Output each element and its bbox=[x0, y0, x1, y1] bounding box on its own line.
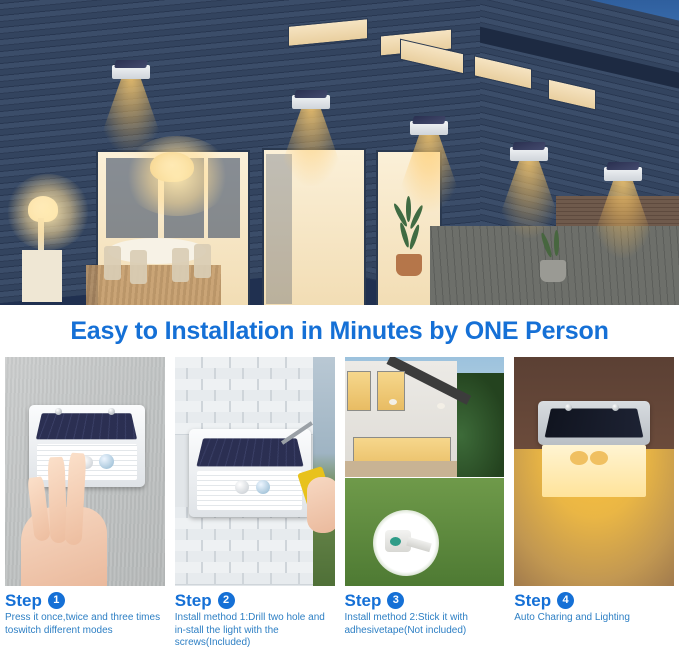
wall-light-small bbox=[389, 399, 397, 405]
dining-chair bbox=[194, 244, 211, 278]
solar-light-product bbox=[29, 405, 145, 487]
floor-lamp-glow bbox=[6, 174, 90, 250]
solar-light-product bbox=[538, 401, 650, 445]
mounting-screw bbox=[612, 404, 619, 411]
headline-band: Easy to Installation in Minutes by ONE P… bbox=[0, 305, 679, 357]
solar-panel bbox=[412, 116, 446, 124]
step-image-row bbox=[0, 357, 679, 590]
house-window bbox=[347, 371, 371, 411]
step-description: Auto Charing and Lighting bbox=[514, 612, 674, 625]
adhesive-tape-callout bbox=[373, 510, 439, 576]
step-caption-1: Step 1 Press it once,twice and three tim… bbox=[5, 592, 165, 665]
step-image-4 bbox=[514, 357, 674, 586]
step-caption-row: Step 1 Press it once,twice and three tim… bbox=[0, 592, 679, 665]
step-heading: Step 2 bbox=[175, 592, 335, 609]
solar-panel bbox=[294, 90, 328, 98]
step-word: Step bbox=[514, 592, 551, 609]
page-title: Easy to Installation in Minutes by ONE P… bbox=[70, 317, 608, 346]
solar-panel bbox=[512, 142, 546, 150]
mounting-screw bbox=[55, 408, 62, 415]
plant-pot bbox=[540, 260, 566, 282]
pir-motion-sensor bbox=[256, 480, 270, 494]
mounting-screw bbox=[565, 404, 572, 411]
solar-panel bbox=[545, 409, 644, 438]
step-caption-2: Step 2 Install method 1:Drill two hole a… bbox=[175, 592, 335, 665]
house-window bbox=[377, 371, 405, 411]
step-number-badge: 1 bbox=[48, 592, 65, 609]
step-word: Step bbox=[345, 592, 382, 609]
terrace-floor bbox=[345, 461, 457, 477]
step-description: Install method 1:Drill two hole and in-s… bbox=[175, 612, 335, 650]
dining-table bbox=[108, 238, 206, 264]
step-description: Press it once,twice and three times tosw… bbox=[5, 612, 165, 637]
plant-pot bbox=[396, 254, 422, 276]
step-number-badge: 2 bbox=[218, 592, 235, 609]
solar-panel bbox=[36, 414, 137, 440]
solar-panel bbox=[606, 162, 640, 170]
deck-planter bbox=[540, 230, 570, 300]
step-caption-3: Step 3 Install method 2:Stick it with ad… bbox=[345, 592, 505, 665]
step-image-1 bbox=[5, 357, 165, 586]
hand bbox=[307, 477, 335, 533]
solar-light-product bbox=[189, 429, 311, 517]
solar-panel bbox=[196, 438, 303, 466]
dining-chair bbox=[130, 250, 147, 284]
solar-wall-light bbox=[112, 58, 150, 79]
solar-wall-light bbox=[604, 160, 642, 181]
wall-light-small bbox=[437, 403, 445, 409]
step-description: Install method 2:Stick it with adhesivet… bbox=[345, 612, 505, 637]
dining-chair bbox=[104, 246, 121, 280]
led-array bbox=[197, 471, 302, 510]
step-word: Step bbox=[175, 592, 212, 609]
solar-wall-light bbox=[510, 140, 548, 161]
solar-wall-light bbox=[292, 88, 330, 109]
solar-panel bbox=[114, 60, 148, 68]
step-image-3 bbox=[345, 357, 505, 586]
pir-motion-sensor bbox=[99, 454, 114, 469]
step-word: Step bbox=[5, 592, 42, 609]
step-number-badge: 4 bbox=[557, 592, 574, 609]
step-heading: Step 1 bbox=[5, 592, 165, 609]
step-image-2 bbox=[175, 357, 335, 586]
step-caption-4: Step 4 Auto Charing and Lighting bbox=[514, 592, 674, 665]
dining-chair bbox=[172, 248, 189, 282]
step-heading: Step 4 bbox=[514, 592, 674, 609]
step-heading: Step 3 bbox=[345, 592, 505, 609]
tape-core bbox=[390, 537, 401, 546]
floor-lamp-base bbox=[22, 250, 62, 302]
hero-photo bbox=[0, 0, 679, 305]
product-infographic-page: Easy to Installation in Minutes by ONE P… bbox=[0, 0, 679, 665]
solar-wall-light bbox=[410, 114, 448, 135]
step-number-badge: 3 bbox=[387, 592, 404, 609]
